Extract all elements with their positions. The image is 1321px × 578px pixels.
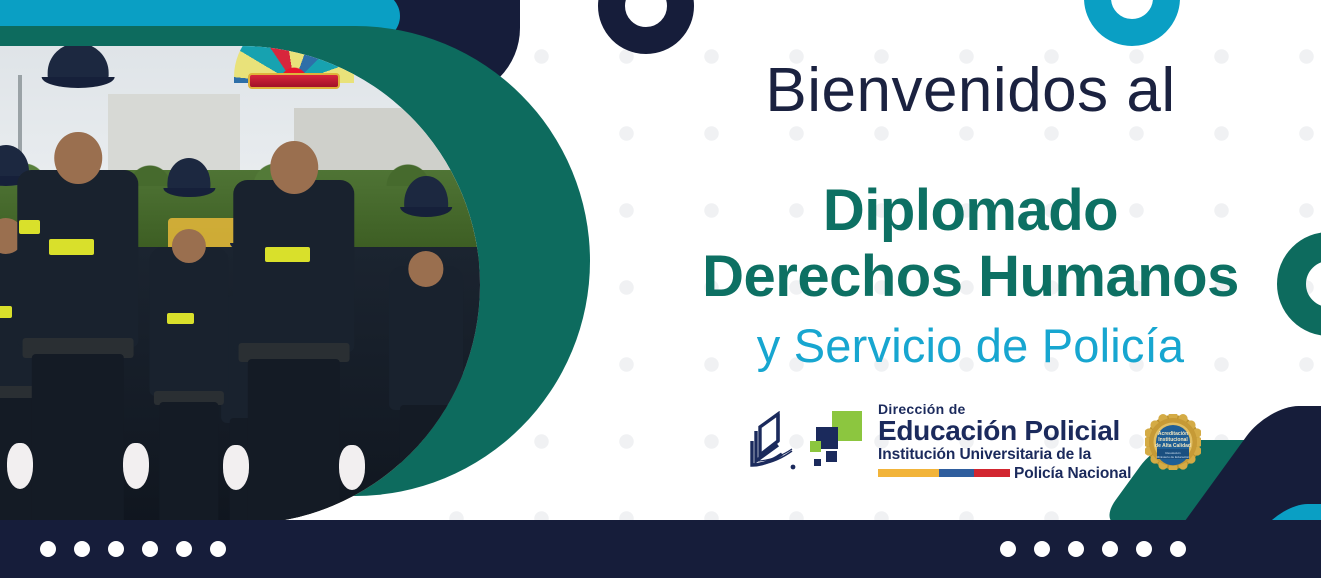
officer-glove-right bbox=[123, 443, 149, 489]
square-navy-small bbox=[826, 451, 837, 462]
officer-chest-badge bbox=[265, 247, 310, 262]
institution-logo: Dirección de Educación Policial Instituc… bbox=[748, 402, 1201, 481]
bottom-dot bbox=[1170, 541, 1186, 557]
officer-torso bbox=[17, 170, 138, 347]
headdress-band bbox=[248, 73, 340, 89]
police-officers-photo bbox=[0, 46, 480, 524]
photo-canvas bbox=[0, 46, 480, 524]
logo-line-direccion: Dirección de bbox=[878, 402, 1131, 416]
promotional-banner: Bienvenidos al Diplomado Derechos Humano… bbox=[0, 0, 1321, 578]
bottom-dot bbox=[74, 541, 90, 557]
officer-mid-2 bbox=[144, 247, 234, 524]
accreditation-seal-icon: Acreditación Institucional de Alta Calid… bbox=[1145, 414, 1201, 470]
program-subtitle: y Servicio de Policía bbox=[620, 318, 1321, 373]
officer-shoulder-badge bbox=[19, 220, 40, 234]
program-title: Diplomado Derechos Humanos bbox=[620, 178, 1321, 309]
officer-chest-badge bbox=[49, 239, 94, 255]
bottom-dot bbox=[1000, 541, 1016, 557]
officer-name-tag bbox=[0, 306, 12, 317]
officer-glove-right bbox=[339, 445, 365, 490]
logo-flag-and-policia-row: Policía Nacional bbox=[878, 466, 1131, 482]
bottom-dot bbox=[1068, 541, 1084, 557]
logo-line-institucion: Institución Universitaria de la bbox=[878, 447, 1131, 463]
logo-line-policia-nacional: Policía Nacional bbox=[1014, 466, 1131, 482]
program-title-line-2: Derechos Humanos bbox=[620, 244, 1321, 310]
colombia-flag-bar bbox=[878, 469, 1010, 477]
officer-head bbox=[270, 141, 318, 194]
officer-front-left bbox=[12, 170, 144, 524]
banner-content: Bienvenidos al Diplomado Derechos Humano… bbox=[620, 0, 1321, 520]
pixel-squares-icon bbox=[808, 411, 870, 473]
square-navy-tiny bbox=[814, 459, 821, 466]
officer-name-tag bbox=[167, 313, 194, 324]
bottom-dots-right bbox=[1000, 541, 1186, 557]
welcome-heading: Bienvenidos al bbox=[620, 58, 1321, 123]
officer-glove-left bbox=[223, 445, 249, 490]
officer-torso bbox=[389, 266, 463, 411]
bottom-dot bbox=[40, 541, 56, 557]
logo-line-educacion-policial: Educación Policial bbox=[878, 417, 1131, 445]
flag-stripe-blue bbox=[939, 469, 975, 477]
officer-cap bbox=[48, 46, 109, 85]
officer-head bbox=[54, 132, 102, 185]
officer-back-3 bbox=[384, 266, 468, 524]
feather-headdress-icon bbox=[234, 46, 354, 83]
officer-front-headdress bbox=[228, 180, 360, 524]
officer-legs bbox=[159, 402, 218, 524]
flag-stripe-red bbox=[974, 469, 1010, 477]
officer-glove-left bbox=[7, 443, 33, 489]
bottom-dot bbox=[142, 541, 158, 557]
officer-legs bbox=[32, 354, 124, 524]
officer-legs bbox=[400, 405, 452, 524]
bottom-dot bbox=[1102, 541, 1118, 557]
bottom-dots-left bbox=[40, 541, 226, 557]
bottom-dot bbox=[1034, 541, 1050, 557]
svg-text:de Alta Calidad: de Alta Calidad bbox=[1155, 443, 1191, 449]
bottom-dot bbox=[108, 541, 124, 557]
svg-text:Ministerio de Educación: Ministerio de Educación bbox=[1157, 455, 1190, 459]
program-title-line-1: Diplomado bbox=[620, 178, 1321, 244]
officer-torso bbox=[233, 180, 354, 352]
bottom-dot bbox=[1136, 541, 1152, 557]
institution-logo-text: Dirección de Educación Policial Instituc… bbox=[878, 402, 1131, 481]
bottom-dot bbox=[176, 541, 192, 557]
bottom-dot bbox=[210, 541, 226, 557]
bottom-navy-bar bbox=[0, 520, 1321, 578]
flag-stripe-yellow bbox=[878, 469, 939, 477]
open-book-icon bbox=[748, 411, 800, 473]
officer-legs bbox=[248, 359, 340, 524]
square-green-small bbox=[810, 441, 821, 452]
